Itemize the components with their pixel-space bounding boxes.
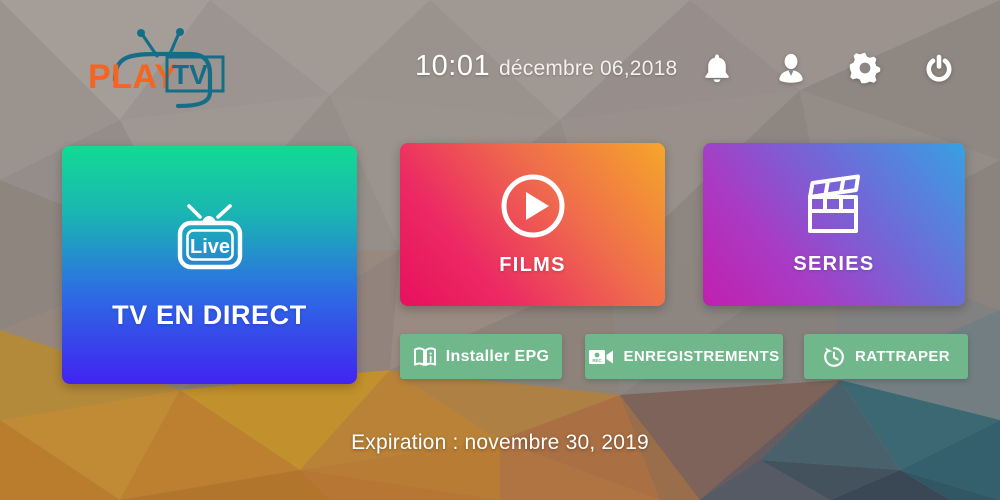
tile-series[interactable]: SERIES (703, 143, 965, 306)
button-label: Installer EPG (446, 348, 550, 366)
tile-label: FILMS (499, 254, 566, 277)
book-info-icon (413, 346, 437, 368)
play-circle-icon (499, 172, 567, 240)
svg-text:TV: TV (172, 59, 208, 90)
expiration-text: Expiration : novembre 30, 2019 (0, 431, 1000, 455)
recordings-button[interactable]: REC ENREGISTREMENTS (585, 334, 783, 379)
tile-label: SERIES (793, 253, 874, 276)
live-tv-icon: Live (172, 200, 248, 276)
clock-date: décembre 06,2018 (499, 57, 677, 81)
user-icon[interactable] (772, 49, 810, 87)
top-bar: PLAY TV 10:01 décembre 06,2018 (0, 0, 1000, 135)
playtv-logo: PLAY TV (72, 22, 272, 112)
button-label: ENREGISTREMENTS (623, 348, 779, 365)
catchup-button[interactable]: RATTRAPER (804, 334, 968, 379)
home-screen: PLAY TV 10:01 décembre 06,2018 (0, 0, 1000, 500)
gear-icon[interactable] (846, 49, 884, 87)
clock-time: 10:01 (415, 50, 490, 83)
power-icon[interactable] (920, 49, 958, 87)
tile-films[interactable]: FILMS (400, 143, 665, 306)
tile-label: TV EN DIRECT (112, 300, 307, 331)
bell-icon[interactable] (698, 49, 736, 87)
tile-tv-en-direct[interactable]: Live TV EN DIRECT (62, 146, 357, 384)
svg-text:Live: Live (189, 236, 229, 258)
svg-text:REC: REC (593, 358, 603, 363)
clock-rewind-icon (822, 345, 846, 369)
install-epg-button[interactable]: Installer EPG (400, 334, 562, 379)
header-icon-row (698, 49, 958, 87)
video-rec-icon: REC (588, 347, 614, 367)
button-label: RATTRAPER (855, 348, 950, 365)
svg-text:PLAY: PLAY (88, 58, 178, 96)
clapperboard-icon (798, 173, 870, 239)
